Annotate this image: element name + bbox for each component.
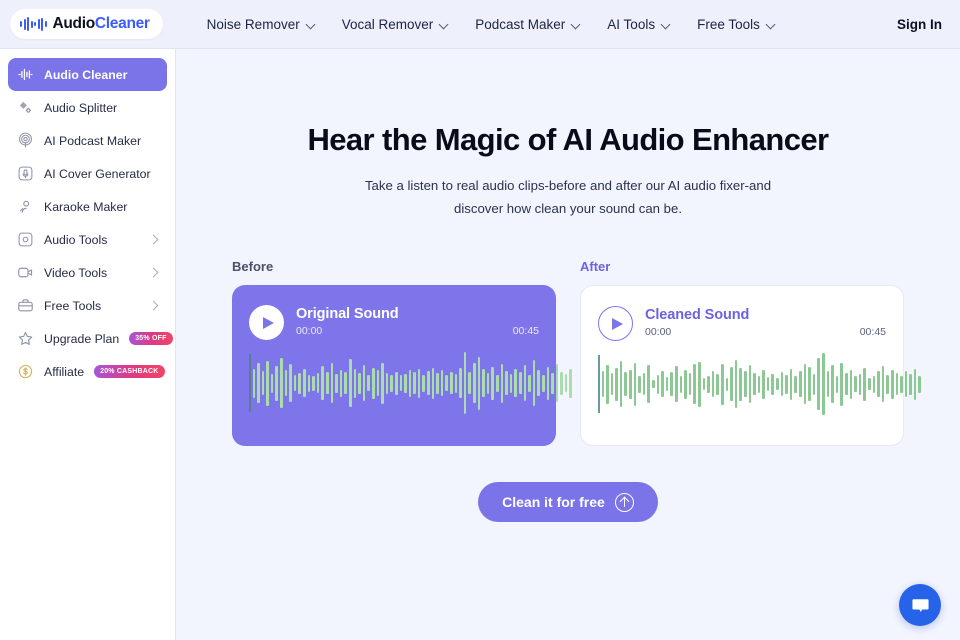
waveform-bar [381, 363, 384, 404]
waveform-bar [358, 373, 361, 394]
waveform-bar [542, 375, 545, 392]
waveform-bar [386, 373, 389, 394]
waveform-bar [404, 374, 407, 393]
audio-splitter-icon [17, 99, 34, 116]
chevron-right-icon [150, 269, 158, 277]
waveform-bar [776, 378, 779, 390]
waveform-bar [712, 371, 715, 397]
waveform-bar [602, 371, 605, 397]
waveform-bar [896, 373, 899, 395]
time-total: 00:45 [860, 326, 886, 338]
track-title: Cleaned Sound [645, 307, 886, 323]
waveform-bar [450, 372, 453, 394]
waveform-bar [657, 375, 660, 394]
chat-widget-button[interactable] [899, 584, 941, 626]
status-badge-cashback: 20% CASHBACK [94, 365, 164, 378]
waveform-bar [703, 378, 706, 390]
waveform-bar [285, 370, 288, 396]
waveform-bar [253, 369, 256, 398]
time-total: 00:45 [513, 325, 539, 337]
chevron-down-icon [662, 20, 671, 29]
arrow-up-circle-icon [615, 493, 634, 512]
clean-it-for-free-button[interactable]: Clean it for free [478, 482, 658, 522]
waveform-bar [744, 371, 747, 397]
sidebar-item-label: AI Cover Generator [44, 167, 151, 181]
waveform-bar [510, 374, 513, 393]
subtitle-line-1: Take a listen to real audio clips-before… [365, 178, 771, 193]
waveform-bar [670, 372, 673, 396]
karaoke-person-icon [17, 198, 34, 215]
track-times: 00:00 00:45 [296, 325, 539, 337]
nav-item-podcast-maker[interactable]: Podcast Maker [475, 17, 581, 32]
waveform-bar [661, 371, 664, 397]
waveform-bar [863, 368, 866, 401]
waveform-bar [390, 375, 393, 392]
waveform-bar [767, 377, 770, 391]
waveform-bar [698, 362, 701, 407]
status-badge-discount: 35% OFF [129, 332, 172, 345]
waveform-bar [794, 376, 797, 393]
waveform-bar [257, 363, 260, 403]
waveform-bar [707, 376, 710, 393]
podcast-mic-icon [17, 132, 34, 149]
waveform-bar [606, 365, 609, 404]
audio-tools-icon [17, 231, 34, 248]
waveform-bar [634, 363, 637, 406]
waveform-bar [367, 375, 370, 391]
card-meta: Original Sound 00:00 00:45 [296, 304, 539, 337]
sidebar-item-free-tools[interactable]: Free Tools [8, 289, 167, 322]
chevron-down-icon [307, 20, 316, 29]
waveform-bar [344, 372, 347, 394]
waveform-bar [505, 371, 508, 395]
waveform-bar [331, 363, 334, 403]
waveform-bar [556, 364, 559, 402]
waveform-bar [312, 376, 315, 391]
waveform-bar [524, 365, 527, 401]
video-camera-icon [17, 264, 34, 281]
waveform-bar [730, 367, 733, 401]
waveform-bar [909, 374, 912, 395]
subtitle-line-2: discover how clean your sound can be. [454, 201, 682, 216]
sidebar-item-upgrade-plan[interactable]: Upgrade Plan 35% OFF [8, 322, 167, 355]
waveform-bar [854, 376, 857, 392]
sidebar-item-ai-cover-generator[interactable]: AI Cover Generator [8, 157, 167, 190]
waveform-bar [859, 374, 862, 395]
waveform-bar [771, 374, 774, 395]
audio-wave-icon [20, 17, 47, 31]
page-subtitle: Take a listen to real audio clips-before… [365, 174, 771, 220]
waveform-bar [914, 369, 917, 400]
waveform-bar [560, 372, 563, 395]
waveform-bar [790, 369, 793, 400]
waveform-bar [643, 373, 646, 395]
star-icon [17, 330, 34, 347]
waveform-bar [335, 374, 338, 393]
waveform-bar [422, 375, 425, 392]
waveform-bar [647, 365, 650, 403]
waveform-playhead[interactable] [598, 355, 600, 413]
waveform-bar [716, 374, 719, 395]
page-title: Hear the Magic of AI Audio Enhancer [307, 122, 828, 158]
waveform-bar [464, 352, 467, 414]
waveform-bar [693, 364, 696, 404]
page-body: Audio Cleaner Audio Splitter AI Podcast … [0, 49, 960, 640]
chevron-down-icon [572, 20, 581, 29]
waveform-bar [624, 372, 627, 396]
waveform-bar [459, 368, 462, 398]
waveform-bar [436, 373, 439, 394]
time-current: 00:00 [296, 325, 322, 337]
waveform-bar [565, 374, 568, 392]
waveform-bar [726, 378, 729, 391]
sign-in-button[interactable]: Sign In [897, 17, 942, 32]
nav-label: AI Tools [607, 17, 655, 32]
nav-label: Free Tools [697, 17, 760, 32]
waveform-bar [684, 370, 687, 399]
card-meta: Cleaned Sound 00:00 00:45 [645, 305, 886, 338]
briefcase-icon [17, 297, 34, 314]
sidebar-item-audio-splitter[interactable]: Audio Splitter [8, 91, 167, 124]
comparison-cards: Before Original Sound 00:00 00:45 [232, 259, 904, 446]
waveform-bar [905, 371, 908, 397]
waveform-bar [900, 376, 903, 393]
waveform-bar [721, 364, 724, 405]
waveform-bar [482, 369, 485, 397]
nav-item-free-tools[interactable]: Free Tools [697, 17, 776, 32]
sidebar-item-audio-tools[interactable]: Audio Tools [8, 223, 167, 256]
waveform-bar [413, 372, 416, 394]
sidebar-item-label: AI Podcast Maker [44, 134, 141, 148]
waveform-bar [519, 372, 522, 394]
chevron-down-icon [440, 20, 449, 29]
waveform-bar [326, 372, 329, 394]
waveform-before[interactable] [249, 350, 539, 416]
waveform-bar [666, 377, 669, 391]
waveform-bar [689, 373, 692, 395]
waveform-bar [882, 366, 885, 402]
waveform-bar [400, 375, 403, 391]
sidebar: Audio Cleaner Audio Splitter AI Podcast … [0, 49, 176, 640]
sidebar-item-label: Affiliate [44, 365, 84, 379]
waveform-bar [275, 366, 278, 401]
waveform-bar [349, 359, 352, 407]
sidebar-item-audio-cleaner[interactable]: Audio Cleaner [8, 58, 167, 91]
waveform-bar [891, 370, 894, 399]
nav-item-noise-remover[interactable]: Noise Remover [207, 17, 316, 32]
waveform-bar [501, 364, 504, 403]
chat-bubble-icon [910, 595, 931, 616]
waveform-bar [478, 357, 481, 410]
waveform-bar [739, 368, 742, 401]
waveform-bar [468, 372, 471, 394]
waveform-bar [491, 367, 494, 400]
waveform-bar [551, 373, 554, 394]
chevron-right-icon [150, 236, 158, 244]
before-column: Before Original Sound 00:00 00:45 [232, 259, 556, 446]
waveform-bar [749, 365, 752, 403]
waveform-bar [652, 380, 655, 389]
brand-name-part2: Cleaner [95, 15, 150, 32]
waveform-bar [680, 376, 683, 393]
waveform-bar [753, 373, 756, 395]
waveform-bar [813, 374, 816, 395]
card-header: Original Sound 00:00 00:45 [249, 304, 539, 340]
waveform-bar [473, 363, 476, 403]
waveform-bar [804, 364, 807, 404]
waveform-bar [528, 375, 531, 392]
waveform-bar [822, 353, 825, 415]
before-label: Before [232, 259, 556, 274]
chevron-down-icon [767, 20, 776, 29]
audio-wave-icon [17, 66, 34, 83]
waveform-bar [308, 375, 311, 392]
waveform-bar [569, 369, 572, 398]
waveform-bar [840, 363, 843, 406]
waveform-bar [836, 376, 839, 393]
waveform-playhead[interactable] [249, 354, 251, 412]
waveform-bar [615, 368, 618, 401]
waveform-bar [377, 370, 380, 396]
time-current: 00:00 [645, 326, 671, 338]
waveform-bar [785, 375, 788, 394]
waveform-bar [280, 358, 283, 408]
waveform-bar [817, 358, 820, 410]
waveform-bar [629, 370, 632, 399]
waveform-bar [266, 361, 269, 406]
waveform-bar [455, 374, 458, 393]
waveform-bar [808, 367, 811, 401]
play-icon [612, 318, 623, 330]
waveform-bar [418, 369, 421, 398]
waveform-bar [432, 368, 435, 399]
waveform-bar [321, 366, 324, 400]
brand-name: AudioCleaner [53, 15, 150, 33]
sidebar-item-label: Audio Splitter [44, 101, 117, 115]
track-title: Original Sound [296, 306, 539, 322]
sidebar-item-label: Free Tools [44, 299, 101, 313]
cta-label: Clean it for free [502, 494, 605, 510]
sidebar-item-label: Video Tools [44, 266, 107, 280]
waveform-after[interactable] [598, 351, 886, 417]
sidebar-item-label: Audio Tools [44, 233, 107, 247]
waveform-bar [547, 367, 550, 400]
sidebar-item-karaoke-maker[interactable]: Karaoke Maker [8, 190, 167, 223]
waveform-bar [850, 370, 853, 399]
waveform-bar [445, 375, 448, 391]
sidebar-item-video-tools[interactable]: Video Tools [8, 256, 167, 289]
waveform-bar [289, 364, 292, 402]
waveform-bar [317, 373, 320, 393]
waveform-bar [514, 369, 517, 397]
waveform-bar [537, 370, 540, 396]
waveform-bar [620, 361, 623, 408]
sidebar-item-affiliate[interactable]: Affiliate 20% CASHBACK [8, 355, 167, 388]
audio-card-before[interactable]: Original Sound 00:00 00:45 [232, 285, 556, 446]
after-label: After [580, 259, 904, 274]
waveform-bar [918, 376, 921, 393]
card-header: Cleaned Sound 00:00 00:45 [598, 305, 886, 341]
play-icon [263, 317, 274, 329]
waveform-bar [877, 371, 880, 397]
coin-dollar-icon [17, 363, 34, 380]
nav-item-vocal-remover[interactable]: Vocal Remover [342, 17, 450, 32]
waveform-bar [675, 366, 678, 402]
waveform-bar [868, 378, 871, 390]
waveform-bar [735, 360, 738, 408]
waveform-bar [831, 365, 834, 403]
waveform-bar [758, 376, 761, 393]
sidebar-item-label: Upgrade Plan [44, 332, 119, 346]
waveform-bar [496, 375, 499, 392]
waveform-bar [441, 370, 444, 396]
page-root: AudioCleaner Noise Remover Vocal Remover… [0, 0, 960, 640]
waveform-bar [827, 371, 830, 397]
cover-microphone-icon [17, 165, 34, 182]
sidebar-item-ai-podcast-maker[interactable]: AI Podcast Maker [8, 124, 167, 157]
sidebar-item-label: Audio Cleaner [44, 68, 127, 82]
waveform-bar [487, 373, 490, 394]
waveform-bar [611, 373, 614, 395]
nav-item-ai-tools[interactable]: AI Tools [607, 17, 671, 32]
waveform-bar [762, 370, 765, 399]
waveform-bar [298, 373, 301, 394]
waveform-bar [533, 360, 536, 407]
waveform-bar [363, 365, 366, 401]
waveform-bar [354, 369, 357, 398]
top-navbar: AudioCleaner Noise Remover Vocal Remover… [0, 0, 960, 49]
waveform-bar [873, 376, 876, 393]
waveform-bar [409, 370, 412, 397]
waveform-bar [395, 372, 398, 395]
nav-label: Vocal Remover [342, 17, 434, 32]
waveform-bar [845, 373, 848, 395]
waveform-bar [303, 369, 306, 397]
waveform-bar [638, 376, 641, 393]
chevron-right-icon [150, 302, 158, 310]
waveform-bar [799, 371, 802, 397]
main-content: Hear the Magic of AI Audio Enhancer Take… [176, 49, 960, 640]
nav-label: Podcast Maker [475, 17, 565, 32]
waveform-bar [294, 375, 297, 391]
waveform-bar [372, 368, 375, 399]
sidebar-item-label: Karaoke Maker [44, 200, 127, 214]
waveform-bar [271, 374, 274, 393]
track-times: 00:00 00:45 [645, 326, 886, 338]
waveform-bar [886, 375, 889, 394]
play-button-before[interactable] [249, 305, 284, 340]
play-button-after[interactable] [598, 306, 633, 341]
brand-logo[interactable]: AudioCleaner [10, 9, 163, 39]
waveform-bar [340, 370, 343, 397]
nav-label: Noise Remover [207, 17, 300, 32]
audio-card-after[interactable]: Cleaned Sound 00:00 00:45 [580, 285, 904, 446]
waveform-bar [262, 371, 265, 395]
waveform-bar [781, 372, 784, 396]
nav-menu: Noise Remover Vocal Remover Podcast Make… [207, 17, 776, 32]
after-column: After Cleaned Sound 00:00 00:45 [580, 259, 904, 446]
waveform-bar [427, 371, 430, 395]
brand-name-part1: Audio [53, 15, 95, 32]
